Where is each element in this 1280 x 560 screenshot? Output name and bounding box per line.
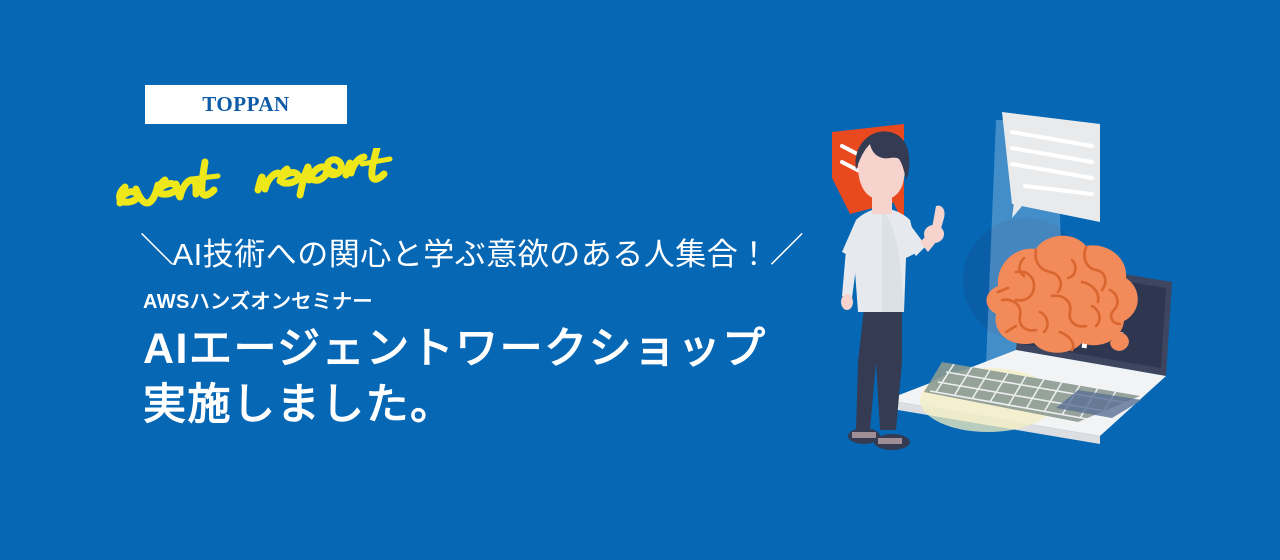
headline-line-1: AIエージェントワークショップ [143,322,767,378]
headline-eyebrow: AWSハンズオンセミナー [143,290,767,314]
slash-right-decoration: ／ [770,234,805,268]
headline-line-2: 実施しました。 [143,378,767,434]
catchcopy-text: AI技術への関心と学ぶ意欲のある人集合！ [173,229,770,274]
slash-left-decoration: ＼ [140,234,175,268]
white-speech-bubble-shape [1002,112,1100,222]
headline-block: AWSハンズオンセミナー AIエージェントワークショップ 実施しました。 [143,290,767,434]
event-report-script-heading [112,148,452,218]
catchcopy-line: ＼ AI技術への関心と学ぶ意欲のある人集合！ ／ [140,230,804,272]
event-report-banner: TOPPAN [0,0,1280,560]
ai-workshop-illustration [820,100,1220,480]
toppan-logo: TOPPAN [145,85,347,124]
toppan-logo-text: TOPPAN [202,94,289,115]
